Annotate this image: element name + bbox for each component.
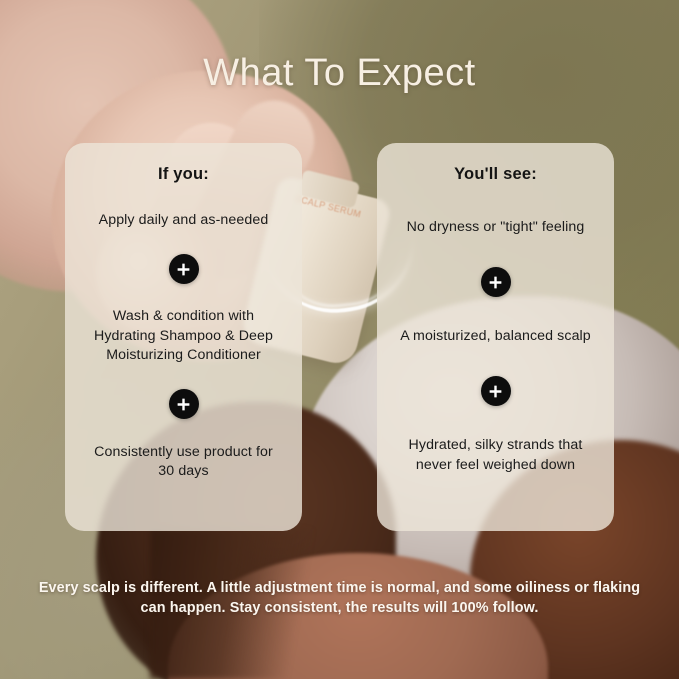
card-if-you-item-1: Apply daily and as-needed [93, 211, 275, 231]
plus-icon [169, 389, 199, 419]
plus-icon [481, 267, 511, 297]
card-youll-see-item-1: No dryness or "tight" feeling [401, 218, 591, 238]
card-youll-see-body: No dryness or "tight" feeling A moisturi… [391, 188, 600, 511]
card-youll-see: You'll see: No dryness or "tight" feelin… [377, 143, 614, 531]
card-if-you: If you: Apply daily and as-needed Wash &… [65, 143, 302, 531]
comparison-cards: If you: Apply daily and as-needed Wash &… [0, 143, 679, 531]
card-youll-see-item-2: A moisturized, balanced scalp [394, 327, 597, 347]
card-youll-see-heading: You'll see: [454, 165, 537, 184]
plus-icon [169, 254, 199, 284]
page-title: What To Expect [0, 52, 679, 95]
card-if-you-heading: If you: [158, 165, 209, 184]
card-if-you-item-2: Wash & condition with Hydrating Shampoo … [79, 307, 288, 366]
card-youll-see-item-3: Hydrated, silky strands that never feel … [391, 436, 600, 475]
card-if-you-body: Apply daily and as-needed Wash & conditi… [79, 188, 288, 511]
infographic-canvas: SCALP SERUM What To Expect If you: Apply… [0, 0, 679, 679]
plus-icon [481, 376, 511, 406]
card-if-you-item-3: Consistently use product for 30 days [79, 443, 288, 482]
footer-disclaimer: Every scalp is different. A little adjus… [34, 578, 645, 619]
